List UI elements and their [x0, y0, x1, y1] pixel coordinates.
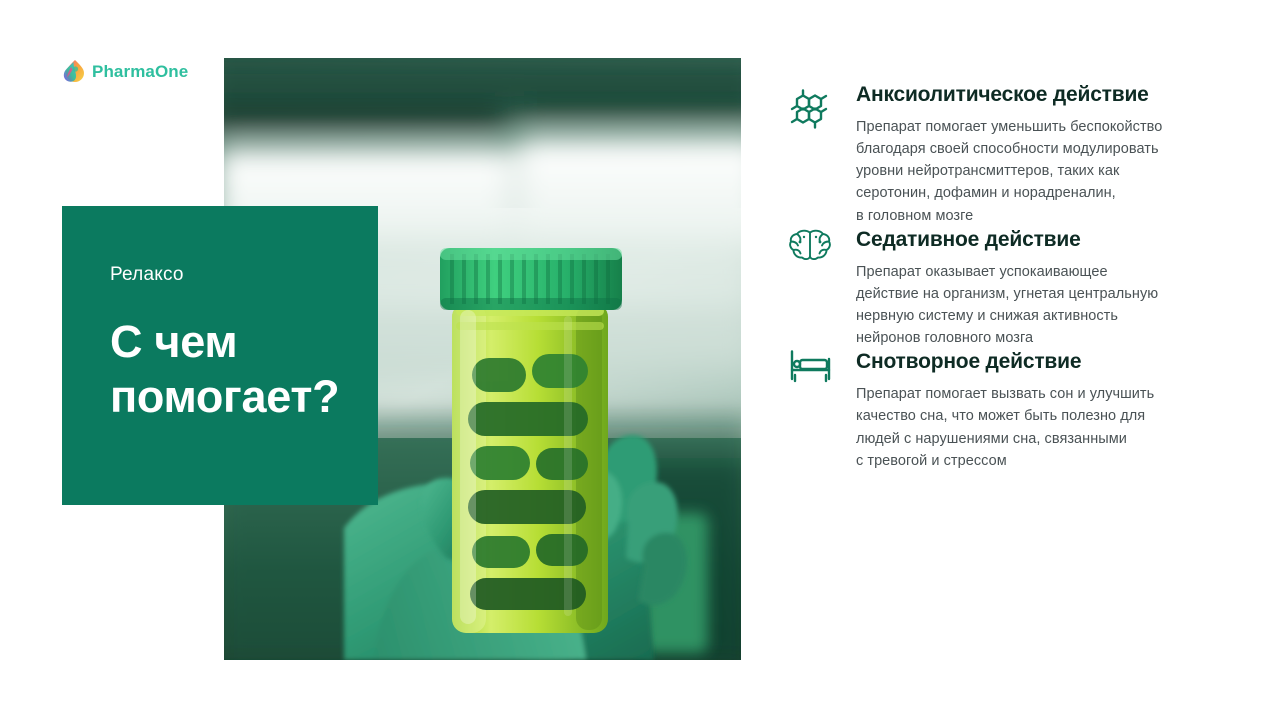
page-title: С чем помогает? [110, 315, 378, 425]
feature-item-anxiolytic: Анксиолитическое действие Препарат помог… [788, 82, 1208, 227]
slide: PharmaOne [0, 0, 1280, 720]
feature-item-hypnotic: Снотворное действие Препарат помогает вы… [788, 349, 1208, 472]
feature-title: Анксиолитическое действие [856, 82, 1208, 109]
brand-logo[interactable]: PharmaOne [60, 58, 188, 84]
molecule-hexagons-icon [788, 86, 836, 134]
feature-body: Препарат помогает вызвать сон и улучшить… [856, 383, 1208, 472]
title-panel: Релаксо С чем помогает? [62, 206, 378, 505]
feature-title: Седативное действие [856, 227, 1208, 254]
product-name: Релаксо [110, 264, 378, 287]
feature-body: Препарат помогает уменьшить беспокойство… [856, 116, 1208, 227]
feature-body: Препарат оказывает успокаивающее действи… [856, 261, 1208, 350]
brain-icon [788, 227, 836, 275]
feature-title: Снотворное действие [856, 349, 1208, 376]
bed-icon [788, 349, 836, 397]
pharma-drop-logo-icon [60, 58, 86, 84]
brand-name: PharmaOne [92, 63, 188, 80]
feature-item-sedative: Седативное действие Препарат оказывает у… [788, 227, 1208, 350]
feature-list: Анксиолитическое действие Препарат помог… [788, 82, 1208, 472]
